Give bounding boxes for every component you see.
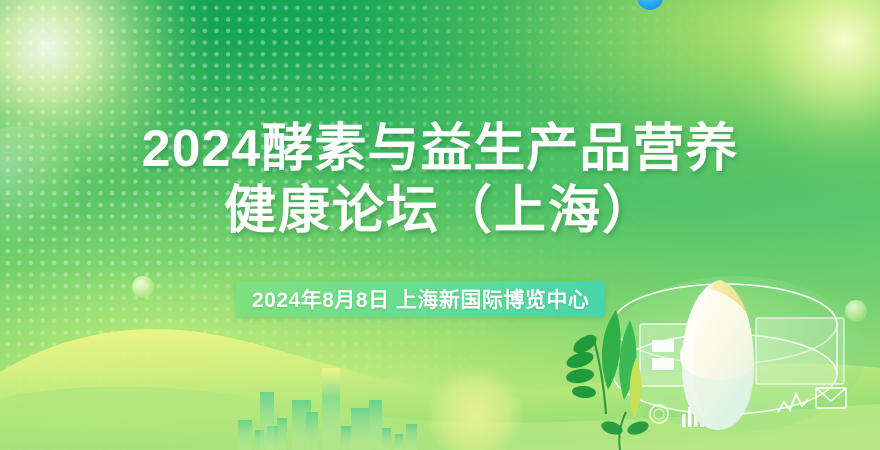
subtitle-date-venue: 2024年8月8日 上海新国际博览中心: [252, 284, 589, 314]
city-skyline-illustration: [210, 330, 610, 450]
skyline-buildings: [238, 368, 417, 450]
subtitle-badge: 2024年8月8日 上海新国际博览中心: [236, 281, 605, 317]
capsule-dashboard-illustration: [560, 262, 880, 450]
sun-circle: [427, 367, 523, 450]
banner-title-line-1: 2024酵素与益生产品营养: [0, 118, 880, 180]
event-banner: 2024酵素与益生产品营养 健康论坛（上海） 2024年8月8日 上海新国际博览…: [0, 0, 880, 450]
panel-bar-2: [652, 358, 674, 370]
right-panel: [756, 318, 844, 384]
banner-title-line-2: 健康论坛（上海）: [0, 180, 880, 242]
panel-bar-1: [652, 340, 674, 352]
title-block: 2024酵素与益生产品营养 健康论坛（上海）: [0, 118, 880, 242]
